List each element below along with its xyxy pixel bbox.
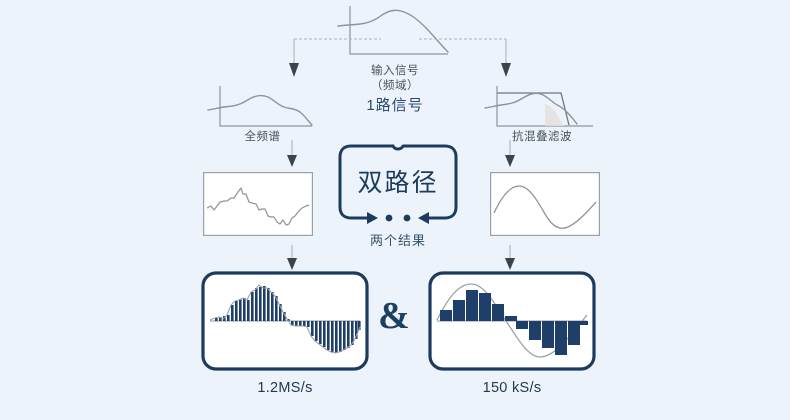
panel-border — [204, 173, 313, 236]
diagram-canvas: 输入信号 （频域） 1路信号 全频谱 抗混叠滤波 — [0, 0, 790, 420]
right-to-waveform-arrow — [503, 140, 517, 168]
slow-sampling-panel — [428, 271, 596, 371]
panel-border — [491, 173, 600, 236]
anti-alias-filter-svg — [483, 84, 601, 132]
right-branch-arrowhead-icon — [501, 63, 511, 77]
left-to-panel-arrow-svg — [285, 245, 299, 273]
dual-path-caption: 两个结果 — [333, 234, 463, 248]
arrowhead-icon — [505, 155, 515, 167]
top-branch-connector — [285, 30, 515, 82]
right-to-waveform-arrow-svg — [503, 140, 517, 168]
anti-alias-filter-chart — [483, 84, 601, 132]
full-spectrum-chart — [206, 84, 318, 132]
wideband-waveform-svg — [203, 172, 313, 236]
narrowband-waveform-svg — [490, 172, 600, 236]
anti-alias-signal-curve — [485, 93, 577, 124]
full-spectrum-svg — [206, 84, 318, 132]
fast-sampling-rate-label: 1.2MS/s — [205, 380, 365, 396]
arrowhead-icon — [287, 258, 297, 270]
input-signal-subtitle: 1路信号 — [330, 99, 460, 113]
anti-alias-filter-caption: 抗混叠滤波 — [482, 130, 602, 144]
left-to-waveform-arrow — [285, 140, 299, 168]
wideband-waveform-box — [203, 172, 313, 236]
left-branch-arrowhead-icon — [289, 63, 299, 77]
right-to-panel-arrow-svg — [503, 245, 517, 273]
narrowband-waveform-box — [490, 172, 600, 236]
full-spectrum-curve — [208, 96, 312, 125]
slow-sampling-rate-label: 150 kS/s — [432, 380, 592, 396]
slow-sampling-svg — [428, 271, 596, 371]
dual-path-badge[interactable]: 双路径 — [337, 143, 459, 231]
fast-sampling-svg — [201, 271, 369, 371]
arrowhead-icon — [505, 258, 515, 270]
right-to-panel-arrow — [503, 245, 517, 273]
left-to-waveform-arrow-svg — [285, 140, 299, 168]
fast-sampling-panel — [201, 271, 369, 371]
conjunction-ampersand: & — [372, 294, 416, 338]
arrowhead-icon — [287, 155, 297, 167]
dual-path-label: 双路径 — [337, 143, 459, 219]
top-branch-connector-svg — [285, 30, 515, 82]
full-spectrum-caption: 全频谱 — [205, 130, 320, 144]
left-to-panel-arrow — [285, 245, 299, 273]
